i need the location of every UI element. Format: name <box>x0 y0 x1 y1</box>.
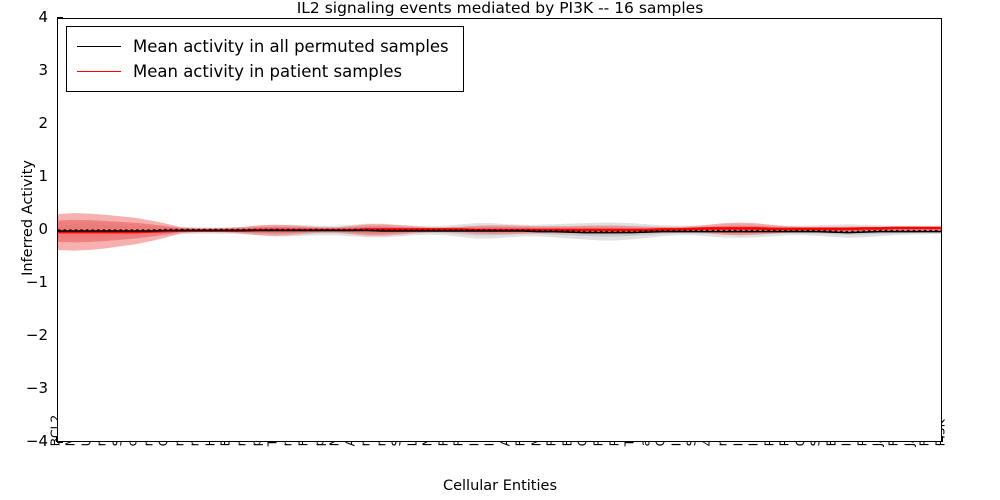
y-tick-label: 1 <box>14 167 48 185</box>
legend-item-patient: Mean activity in patient samples <box>77 59 449 84</box>
y-tick-label: −3 <box>14 379 48 397</box>
x-axis-label: Cellular Entities <box>0 478 1000 494</box>
y-tick-label: −4 <box>14 432 48 450</box>
y-tick-label: 4 <box>14 8 48 26</box>
y-tick-label: 0 <box>14 220 48 238</box>
y-tick-label: 3 <box>14 61 48 79</box>
legend-label-patient: Mean activity in patient samples <box>133 62 402 81</box>
legend: Mean activity in all permuted samples Me… <box>66 26 464 92</box>
legend-line-black-icon <box>77 46 121 47</box>
legend-line-red-icon <box>77 71 121 72</box>
y-tick-label: −1 <box>14 273 48 291</box>
chart-title: IL2 signaling events mediated by PI3K --… <box>0 0 1000 17</box>
y-tick-label: −2 <box>14 326 48 344</box>
y-tick-label: 2 <box>14 114 48 132</box>
chart-root: IL2 signaling events mediated by PI3K --… <box>0 0 1000 500</box>
legend-item-permuted: Mean activity in all permuted samples <box>77 34 449 59</box>
legend-label-permuted: Mean activity in all permuted samples <box>133 37 449 56</box>
